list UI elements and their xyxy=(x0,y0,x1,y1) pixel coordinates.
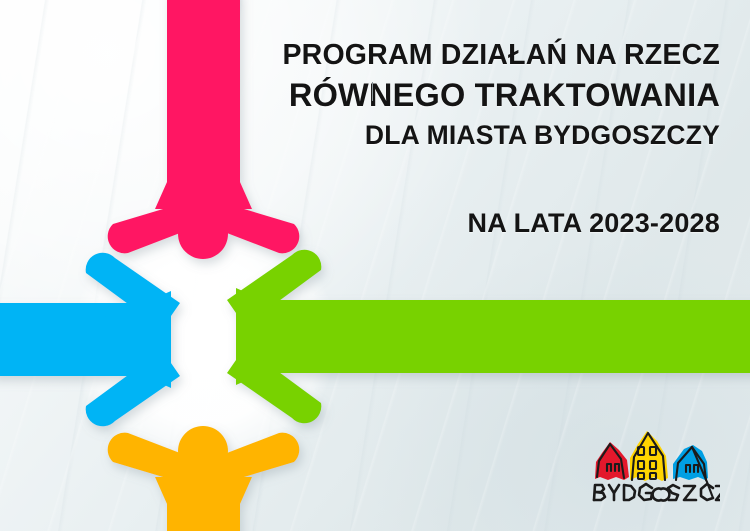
subheadline-years: NA LATA 2023-2028 xyxy=(330,205,720,241)
bydgoszcz-wordmark xyxy=(594,484,720,501)
headline-line-1: PROGRAM DZIAŁAŃ NA RZECZ xyxy=(270,36,720,74)
bydgoszcz-logo-svg xyxy=(588,428,720,506)
figure-right-head xyxy=(285,312,335,362)
poster-canvas: PROGRAM DZIAŁAŃ NA RZECZ RÓWNEGO TRAKTOW… xyxy=(0,0,750,531)
figure-left-head xyxy=(72,315,122,365)
headline-line-3: DLA MIASTA BYDGOSZCZY xyxy=(270,116,720,154)
headline-block: PROGRAM DZIAŁAŃ NA RZECZ RÓWNEGO TRAKTOW… xyxy=(270,36,720,154)
figure-top-head xyxy=(178,209,228,259)
figure-bottom xyxy=(108,426,300,531)
text-caret-artifact xyxy=(372,82,373,101)
figure-top-body xyxy=(155,0,252,209)
figure-bottom-body xyxy=(155,477,252,531)
figure-bottom-head xyxy=(178,426,228,476)
bydgoszcz-logo xyxy=(588,428,720,506)
figure-right xyxy=(227,250,750,424)
headline-line-2: RÓWNEGO TRAKTOWANIA xyxy=(270,74,720,116)
